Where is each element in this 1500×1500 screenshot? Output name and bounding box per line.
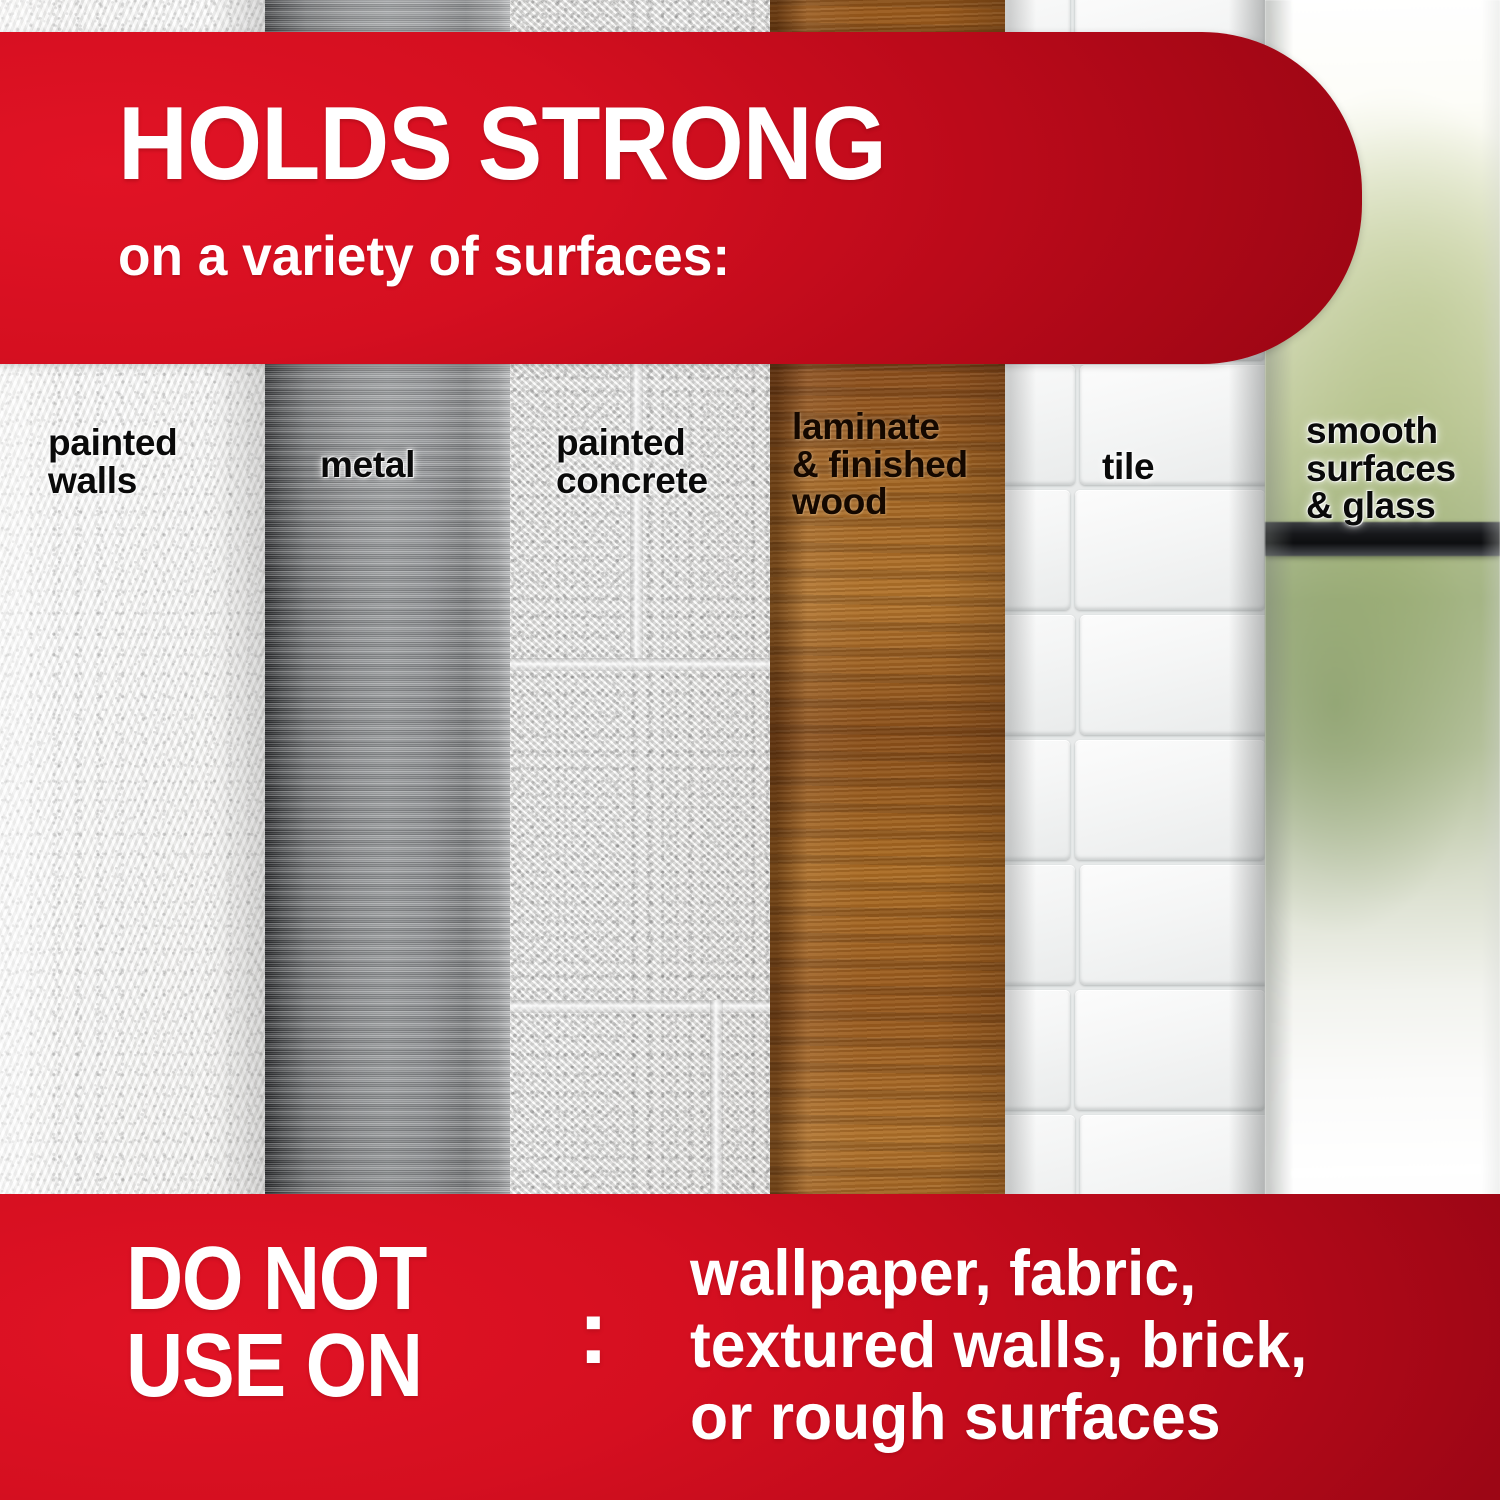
do-not-use-line-1: DO NOT (126, 1236, 584, 1323)
label-line: concrete (556, 462, 708, 500)
tile-piece (1005, 490, 1070, 610)
do-not-use-colon: : (578, 1286, 609, 1378)
label-smooth-glass: smooth surfaces & glass (1306, 412, 1456, 525)
label-line: surfaces (1306, 450, 1456, 488)
tile-piece (1005, 865, 1075, 985)
label-line: & glass (1306, 487, 1456, 525)
label-line: walls (48, 462, 177, 500)
tile-piece (1075, 990, 1265, 1110)
do-not-use-heading: DO NOT USE ON (126, 1236, 646, 1411)
label-painted-concrete: painted concrete (556, 424, 708, 499)
label-painted-walls: painted walls (48, 424, 177, 499)
mortar-line-horizontal (510, 658, 770, 671)
tile-piece (1080, 865, 1265, 985)
do-not-use-items-list: wallpaper, fabric, textured walls, brick… (690, 1237, 1333, 1453)
do-not-use-line-2: USE ON (126, 1323, 584, 1410)
label-laminate-wood: laminate & finished wood (792, 408, 968, 521)
label-line: tile (1102, 448, 1154, 486)
window-frame-bar (1265, 522, 1500, 556)
mortar-line-horizontal (510, 1000, 770, 1013)
tile-piece (1005, 365, 1075, 485)
headline-holds-strong: HOLDS STRONG (118, 92, 886, 196)
tile-piece (1005, 990, 1070, 1110)
label-tile: tile (1102, 448, 1154, 486)
tile-piece (1080, 615, 1265, 735)
label-line: painted (556, 424, 708, 462)
label-line: metal (320, 446, 415, 484)
tile-piece (1005, 740, 1070, 860)
do-not-use-item: textured walls, brick, (690, 1309, 1307, 1381)
mortar-line-vertical (710, 1000, 723, 1200)
label-line: wood (792, 483, 968, 521)
do-not-use-item: wallpaper, fabric, (690, 1237, 1307, 1309)
subhead-variety-of-surfaces: on a variety of surfaces: (118, 228, 730, 284)
do-not-use-item: or rough surfaces (690, 1381, 1307, 1453)
infographic-page: HOLDS STRONG on a variety of surfaces: p… (0, 0, 1500, 1500)
label-line: smooth (1306, 412, 1456, 450)
label-line: laminate (792, 408, 968, 446)
tile-piece (1005, 615, 1075, 735)
label-metal: metal (320, 446, 415, 484)
label-line: painted (48, 424, 177, 462)
label-line: & finished (792, 446, 968, 484)
tile-piece (1075, 740, 1265, 860)
tile-piece (1075, 490, 1265, 610)
